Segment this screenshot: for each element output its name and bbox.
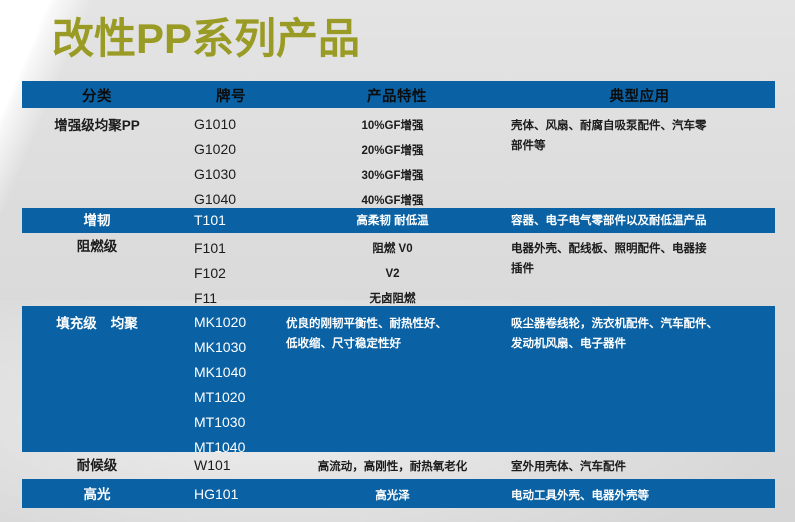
cell-feature: 高柔韧 耐低温 — [280, 212, 505, 231]
cell-category: 高光 — [22, 485, 172, 504]
cell-grade-list: G1010 G1020 G1030 G1040 — [172, 112, 297, 212]
cell-grade: HG101 — [172, 485, 297, 504]
table-row: 增韧 T101 高柔韧 耐低温 容器、电子电气零部件以及耐低温产品 — [22, 208, 775, 233]
cell-grade-list: F101 F102 F11 — [172, 236, 297, 311]
column-header-grade: 牌号 — [172, 85, 290, 106]
column-header-feature: 产品特性 — [292, 85, 502, 106]
table-row: 高光 HG101 高光泽 电动工具外壳、电器外壳等 — [22, 479, 775, 508]
page-title: 改性PP系列产品 — [52, 13, 360, 65]
table-row: 填充级 均聚 MK1020 MK1030 MK1040 MT1020 MT103… — [22, 306, 775, 452]
cell-grade: W101 — [172, 456, 297, 475]
column-header-category: 分类 — [22, 85, 172, 106]
cell-application: 电动工具外壳、电器外壳等 — [505, 487, 775, 506]
table-row: 阻燃级 F101 F102 F11 阻燃 V0 V2 无卤阻燃 电器外壳、配线板… — [22, 233, 775, 306]
product-table: 分类 牌号 产品特性 典型应用 增强级均聚PP G1010 G1020 G103… — [22, 81, 775, 508]
feature-item: 20%GF增强 — [280, 139, 505, 164]
cell-grade-list: MK1020 MK1030 MK1040 MT1020 MT1030 MT104… — [172, 310, 297, 460]
application-line: 壳体、风扇、耐腐自吸泵配件、汽车零 — [511, 116, 775, 136]
cell-category-secondary: 均聚 — [111, 314, 138, 333]
cell-category-primary: 填充级 — [56, 314, 97, 333]
column-header-application: 典型应用 — [502, 85, 777, 106]
cell-feature: 高光泽 — [280, 487, 505, 506]
cell-application: 电器外壳、配线板、照明配件、电器接 插件 — [505, 239, 775, 279]
cell-category: 增强级均聚PP — [22, 116, 172, 135]
feature-line: 低收缩、尺寸稳定性好 — [286, 334, 505, 354]
cell-application: 壳体、风扇、耐腐自吸泵配件、汽车零 部件等 — [505, 116, 775, 156]
application-line: 发动机风扇、电子器件 — [511, 334, 775, 354]
cell-category: 耐候级 — [22, 456, 172, 475]
feature-item: 阻燃 V0 — [280, 237, 505, 262]
application-line: 部件等 — [511, 136, 775, 156]
table-row: 增强级均聚PP G1010 G1020 G1030 G1040 10%GF增强 … — [22, 108, 775, 208]
grade-item: MK1040 — [194, 360, 297, 385]
cell-category: 增韧 — [22, 211, 172, 230]
feature-item: 30%GF增强 — [280, 164, 505, 189]
cell-feature-list: 阻燃 V0 V2 无卤阻燃 — [280, 237, 505, 312]
table-header-row: 分类 牌号 产品特性 典型应用 — [22, 81, 775, 108]
cell-feature-list: 10%GF增强 20%GF增强 30%GF增强 40%GF增强 — [280, 114, 505, 214]
cell-feature: 高流动，高刚性，耐热氧老化 — [280, 458, 505, 477]
cell-application: 吸尘器卷线轮，洗衣机配件、汽车配件、 发动机风扇、电子器件 — [505, 314, 775, 354]
cell-feature: 优良的刚韧平衡性、耐热性好、 低收缩、尺寸稳定性好 — [280, 314, 505, 354]
feature-item: 10%GF增强 — [280, 114, 505, 139]
cell-category: 阻燃级 — [22, 237, 172, 256]
application-line: 插件 — [511, 259, 775, 279]
cell-grade: T101 — [172, 211, 297, 230]
table-row: 耐候级 W101 高流动，高刚性，耐热氧老化 室外用壳体、汽车配件 — [22, 452, 775, 479]
cell-category: 填充级 均聚 — [22, 314, 172, 333]
cell-application: 室外用壳体、汽车配件 — [505, 458, 775, 477]
slide-canvas: 改性PP系列产品 分类 牌号 产品特性 典型应用 增强级均聚PP G1010 G… — [0, 0, 795, 522]
feature-line: 优良的刚韧平衡性、耐热性好、 — [286, 314, 505, 334]
application-line: 吸尘器卷线轮，洗衣机配件、汽车配件、 — [511, 314, 775, 334]
grade-item: MT1020 — [194, 385, 297, 410]
cell-application: 容器、电子电气零部件以及耐低温产品 — [505, 212, 775, 231]
feature-item: V2 — [280, 262, 505, 287]
grade-item: MT1030 — [194, 410, 297, 435]
application-line: 电器外壳、配线板、照明配件、电器接 — [511, 239, 775, 259]
